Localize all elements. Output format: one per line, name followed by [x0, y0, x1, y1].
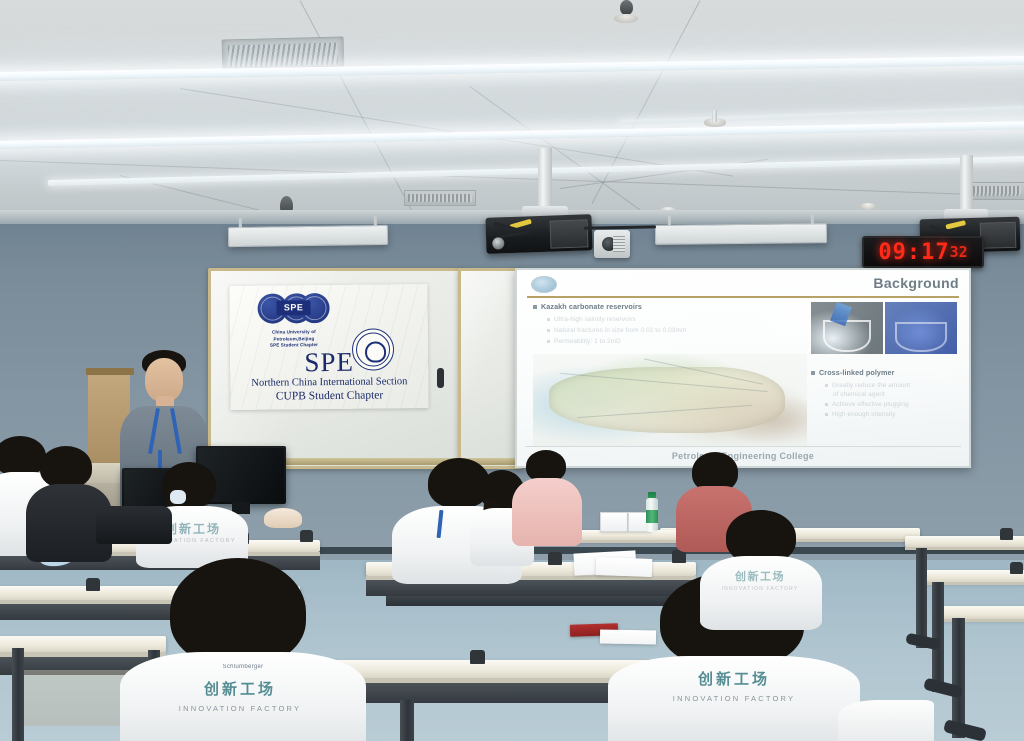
slide-bullet-r3: Achieve effective plugging: [832, 401, 909, 408]
backpack: [96, 506, 172, 544]
jacket-english-text: INNOVATION FACTORY: [710, 586, 810, 592]
ceiling-camera: [594, 230, 630, 258]
desk-leg: [400, 700, 414, 741]
jacket-chinese-text: 创新工场: [142, 678, 338, 699]
slide-bullets-left: Kazakh carbonate reservoirs Ultra-high s…: [533, 302, 793, 349]
attendee-right: 创新工场 INNOVATION FACTORY: [700, 510, 818, 620]
spe-banner: SPE China University of Petroleum,Beijin…: [229, 284, 428, 410]
attendee-hair: [170, 558, 306, 666]
desk-leg: [932, 582, 944, 692]
slide-bullet-r0: Cross-linked polymer: [819, 368, 895, 377]
lecture-hall-photo: 09:1732 SPE China University of Petroleu…: [0, 0, 1024, 741]
desk-clip: [548, 552, 562, 565]
attendee-hand: [264, 508, 302, 528]
desk-clip: [1000, 528, 1013, 540]
desk-clip: [86, 578, 100, 591]
ceiling-air-vent-3: [965, 182, 1024, 200]
name-card: [600, 512, 628, 532]
ceiling-dome-base: [614, 14, 638, 23]
face-mask: [170, 490, 186, 504]
desk-right-3: [938, 606, 1024, 630]
jacket-chinese-text: 创新工场: [630, 668, 838, 689]
banner-title: SPE: [230, 346, 428, 379]
whiteboard-right-panel: [458, 268, 522, 469]
spe-logo-word: SPE: [277, 300, 311, 315]
slide-bullet-l2: Natural fractures in size from 0.02 to 0…: [554, 327, 686, 334]
slide-bullet-l3: Permeability: 1 to 2mD: [554, 338, 621, 345]
projector-pole: [538, 148, 552, 210]
kazakhstan-map-image: [533, 354, 807, 446]
desk-leg: [916, 548, 927, 648]
water-bottle: [645, 492, 659, 532]
slide-bullet-r2: of chemical agent: [833, 391, 885, 398]
whiteboard-knob: [437, 368, 444, 388]
slide-bullet-r4: High enough intensity: [832, 411, 896, 418]
ceiling-projector: [485, 214, 592, 254]
desk-row-front-center: [330, 660, 650, 740]
slide-bullets-right: Cross-linked polymer Greatly reduce the …: [811, 368, 966, 421]
banner-subtitle-2: CUPB Student Chapter: [230, 389, 428, 403]
jacket-sponsor-text: Schlumberger: [178, 664, 308, 670]
jacket-chinese-text: 创新工场: [710, 568, 810, 584]
lab-photo-clear-gel: [811, 302, 883, 354]
jacket-english-text: INNOVATION FACTORY: [630, 694, 838, 703]
jacket-english-text: INNOVATION FACTORY: [142, 704, 338, 713]
clock-seconds: 32: [950, 243, 968, 261]
slide-title: Background: [873, 275, 959, 291]
attendee-front-center: Schlumberger 创新工场 INNOVATION FACTORY: [126, 558, 356, 741]
digital-wall-clock: 09:1732: [862, 236, 984, 268]
projection-screen: Background Kazakh carbonate reservoirs U…: [515, 268, 971, 468]
banner-subtitle-1: Northern China International Section: [230, 376, 428, 389]
attendee-hair: [40, 446, 92, 488]
ceiling-speaker: [620, 0, 633, 15]
wall-light-fixture: [228, 225, 388, 247]
clock-time: 09:17: [878, 240, 949, 265]
attendee-pink: [512, 450, 582, 542]
detector-stalk: [712, 110, 717, 122]
desk-clip: [470, 650, 485, 664]
lab-photo-blue-gel: [885, 302, 957, 354]
slide-bullet-l1: Ultra-high salinity reservoirs: [554, 316, 636, 323]
presentation-slide: Background Kazakh carbonate reservoirs U…: [517, 270, 969, 466]
attendee-shoulder-edge: [838, 700, 934, 741]
wall-light-fixture: [655, 223, 827, 245]
slide-logo-icon: [531, 276, 557, 293]
desk-leg: [952, 618, 965, 738]
desk-clip: [300, 530, 313, 542]
projector-pole-right: [960, 155, 973, 213]
ceiling-air-vent-2: [404, 190, 476, 206]
slide-bullet-r1: Greatly reduce the amount: [832, 382, 910, 389]
attendee-torso: [512, 478, 582, 546]
slide-bullet-l0: Kazakh carbonate reservoirs: [541, 302, 642, 311]
desk-leg: [12, 648, 24, 741]
spe-logo-icon: SPE: [257, 293, 329, 328]
smoke-detector: [860, 203, 876, 210]
desk-clip: [1010, 562, 1023, 574]
